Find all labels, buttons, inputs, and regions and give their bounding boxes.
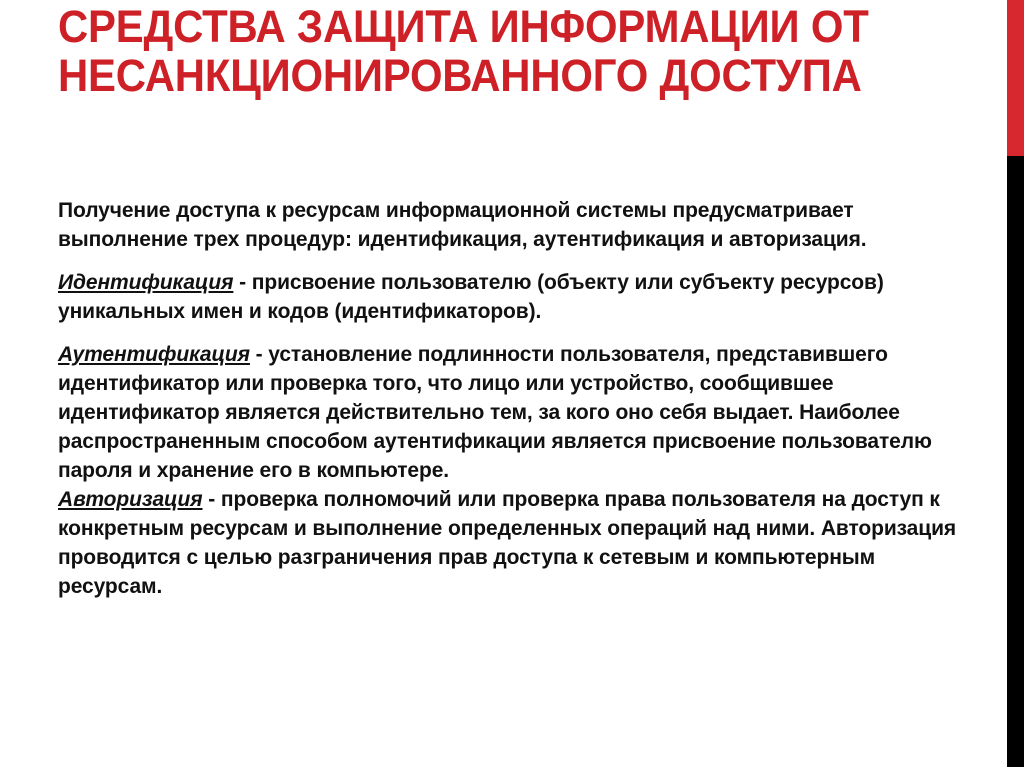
term-identification: Идентификация <box>58 271 233 294</box>
title-block: Средства защита информации от несанкцион… <box>58 2 988 100</box>
paragraph-authorization: Авторизация - проверка полномочий или пр… <box>58 485 968 601</box>
term-authentication: Аутентификация <box>58 343 250 366</box>
paragraph-intro-text: Получение доступа к ресурсам информацион… <box>58 199 866 251</box>
term-authorization: Авторизация <box>58 488 203 511</box>
paragraph-intro: Получение доступа к ресурсам информацион… <box>58 196 968 254</box>
right-edge-red-bar <box>1007 0 1024 156</box>
paragraph-identification: Идентификация - присвоение пользователю … <box>58 268 968 326</box>
paragraph-authentication: Аутентификация - установление подлинност… <box>58 340 968 485</box>
page-title: Средства защита информации от несанкцион… <box>58 2 923 100</box>
body-content: Получение доступа к ресурсам информацион… <box>58 196 968 601</box>
right-edge-black-bar <box>1007 156 1024 767</box>
slide-canvas: Средства защита информации от несанкцион… <box>0 0 1024 767</box>
